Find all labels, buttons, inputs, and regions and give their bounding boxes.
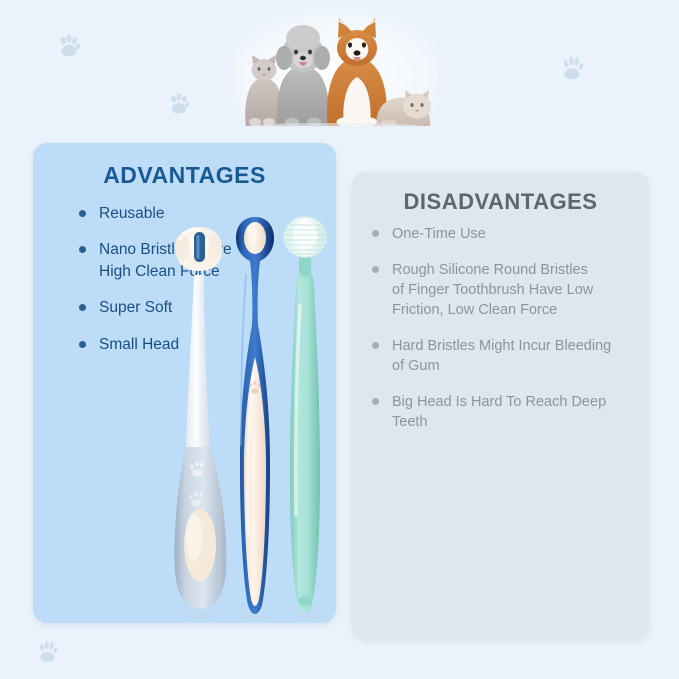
bullet-dot-icon — [372, 266, 379, 273]
paw-print-upper-mid-left — [166, 92, 192, 118]
disadvantage-item-1: One-Time Use — [370, 224, 632, 244]
pets-photo — [232, 8, 438, 130]
disadvantages-list: One-Time Use Rough Silicone Round Bristl… — [370, 224, 632, 448]
mint-round-toothbrush — [284, 217, 326, 621]
paw-print-top-left — [55, 33, 83, 61]
disadvantages-title: DISADVANTAGES — [352, 189, 649, 215]
bullet-dot-icon — [372, 398, 379, 405]
infographic-canvas: ADVANTAGES Reusable Nano Bristles Have H… — [0, 0, 679, 679]
bullet-dot-icon — [79, 304, 86, 311]
round-bristle-head — [284, 217, 326, 257]
bullet-dot-icon — [79, 341, 86, 348]
disadvantage-item-4-label: Big Head Is Hard To Reach Deep Teeth — [392, 392, 632, 432]
paw-print-top-right — [558, 55, 587, 84]
bullet-dot-icon — [79, 210, 86, 217]
disadvantage-item-2: Rough Silicone Round Bristles of Finger … — [370, 260, 632, 320]
disadvantage-item-3-label: Hard Bristles Might Incur Bleeding of Gu… — [392, 336, 632, 376]
disadvantages-panel: DISADVANTAGES One-Time Use Rough Silicon… — [352, 172, 649, 639]
bullet-dot-icon — [79, 246, 86, 253]
bullet-dot-icon — [372, 342, 379, 349]
advantages-title: ADVANTAGES — [33, 162, 336, 189]
disadvantage-item-1-label: One-Time Use — [392, 224, 632, 244]
disadvantage-item-3: Hard Bristles Might Incur Bleeding of Gu… — [370, 336, 632, 376]
disadvantage-item-2-label: Rough Silicone Round Bristles of Finger … — [392, 260, 632, 320]
toothbrush-product-group — [150, 215, 350, 625]
blue-nano-toothbrush — [236, 217, 274, 621]
three-sided-toothbrush — [174, 227, 226, 618]
disadvantage-item-4: Big Head Is Hard To Reach Deep Teeth — [370, 392, 632, 432]
bullet-dot-icon — [372, 230, 379, 237]
paw-print-bottom-left — [35, 640, 61, 666]
